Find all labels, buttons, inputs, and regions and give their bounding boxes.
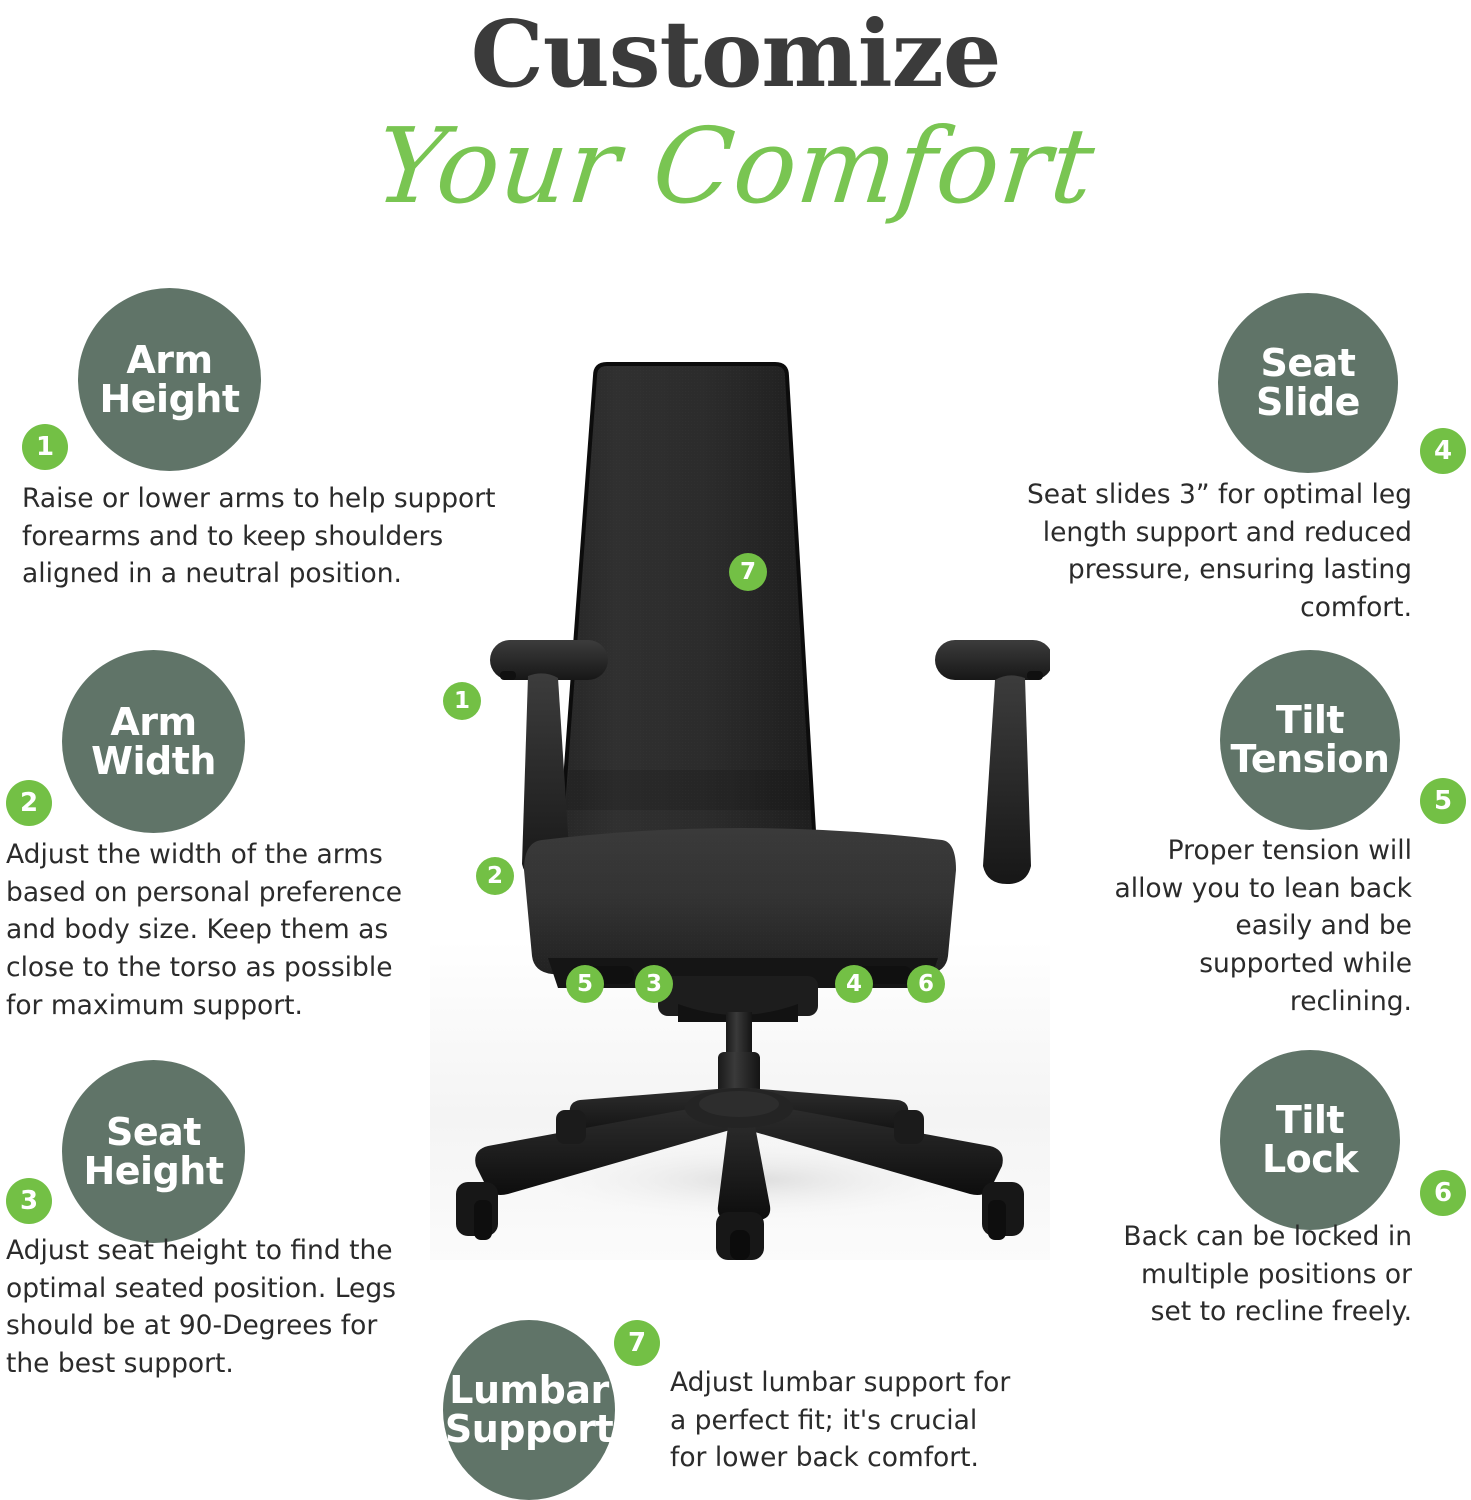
bubble-title-line1: Lumbar [445, 1371, 613, 1410]
badge-number-3[interactable]: 3 [6, 1178, 52, 1224]
callout-bubble-lumbar-support[interactable]: Lumbar Support [443, 1320, 615, 1500]
bubble-title-line2: Slide [1256, 383, 1360, 422]
bubble-title-line1: Arm [91, 703, 216, 742]
chair-marker-2-armrest-width[interactable]: 2 [476, 857, 514, 895]
bubble-title-line2: Height [99, 380, 239, 419]
callout-description-tilt-tension: Proper tension will allow you to lean ba… [1112, 832, 1412, 1020]
callout-description-lumbar-support: Adjust lumbar support for a perfect fit;… [670, 1364, 1020, 1477]
bubble-title-line1: Seat [83, 1113, 223, 1152]
chair-marker-4-seat-slide[interactable]: 4 [835, 965, 873, 1003]
bubble-title-line1: Arm [99, 341, 239, 380]
badge-number-6[interactable]: 6 [1420, 1170, 1466, 1216]
infographic-page: Customize Your Comfort [0, 0, 1471, 1500]
bubble-title-line2: Tension [1230, 740, 1389, 779]
badge-number-1[interactable]: 1 [22, 424, 68, 470]
bubble-title-line1: Seat [1256, 344, 1360, 383]
bubble-title-line2: Support [445, 1410, 613, 1449]
chair-marker-1-armrest-height[interactable]: 1 [443, 682, 481, 720]
callout-description-seat-slide: Seat slides 3” for optimal leg length su… [1000, 476, 1412, 627]
chair-marker-7-lumbar-back[interactable]: 7 [729, 553, 767, 591]
chair-caster-front-right [982, 1182, 1024, 1240]
bubble-title-line1: Tilt [1230, 701, 1389, 740]
bubble-title-line2: Lock [1262, 1140, 1358, 1179]
callout-bubble-tilt-tension[interactable]: Tilt Tension [1220, 650, 1400, 830]
chair-marker-3-seat-height[interactable]: 3 [635, 965, 673, 1003]
bubble-title-line2: Height [83, 1152, 223, 1191]
badge-number-7[interactable]: 7 [614, 1320, 660, 1366]
chair-marker-5-tilt-tension[interactable]: 5 [566, 965, 604, 1003]
callout-description-tilt-lock: Back can be locked in multiple positions… [1112, 1218, 1412, 1331]
chair-backrest [560, 364, 815, 848]
chair-marker-6-tilt-lock[interactable]: 6 [907, 965, 945, 1003]
bubble-title-line1: Tilt [1262, 1101, 1358, 1140]
chair-caster-rear-right [894, 1110, 924, 1144]
page-header: Customize Your Comfort [0, 0, 1471, 218]
callout-bubble-arm-width[interactable]: Arm Width [62, 650, 245, 833]
chair-armrest-right [935, 640, 1050, 884]
page-subtitle: Your Comfort [0, 114, 1471, 218]
chair-caster-center-front [716, 1212, 764, 1260]
chair-illustration [430, 340, 1050, 1260]
callout-description-arm-width: Adjust the width of the arms based on pe… [6, 836, 406, 1024]
callout-description-arm-height: Raise or lower arms to help support fore… [22, 480, 502, 593]
chair-caster-rear-left [556, 1110, 586, 1144]
callout-description-seat-height: Adjust seat height to find the optimal s… [6, 1232, 406, 1383]
callout-bubble-tilt-lock[interactable]: Tilt Lock [1220, 1050, 1400, 1230]
callout-bubble-seat-slide[interactable]: Seat Slide [1218, 293, 1398, 473]
page-title: Customize [0, 0, 1471, 100]
badge-number-4[interactable]: 4 [1420, 428, 1466, 474]
callout-bubble-arm-height[interactable]: Arm Height [78, 288, 261, 471]
bubble-title-line2: Width [91, 742, 216, 781]
chair-caster-front-left [456, 1182, 498, 1240]
badge-number-2[interactable]: 2 [6, 780, 52, 826]
callout-bubble-seat-height[interactable]: Seat Height [62, 1060, 245, 1243]
badge-number-5[interactable]: 5 [1420, 778, 1466, 824]
product-image-office-chair [430, 340, 1050, 1260]
